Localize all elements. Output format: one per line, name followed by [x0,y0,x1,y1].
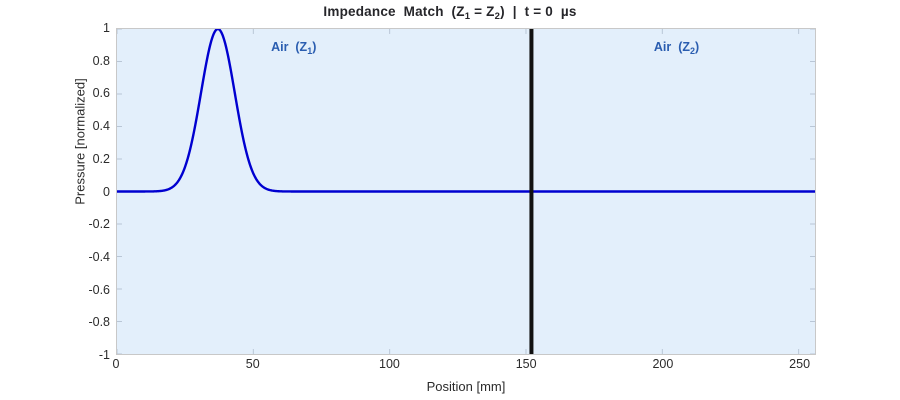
impedance-match-figure: Impedance Match (Z1 = Z2) | t = 0 µs Pre… [0,0,900,400]
y-tick-label: -1 [70,348,110,362]
region-left-label: Air (Z1) [271,40,316,54]
x-tick-label: 250 [789,357,810,371]
plot-area [116,28,816,355]
y-tick-label: -0.4 [70,250,110,264]
y-tick-label: 0.6 [70,86,110,100]
x-tick-label: 0 [113,357,120,371]
region-right-label: Air (Z2) [654,40,699,54]
x-axis-tick-labels: 050100150200250 [116,357,816,377]
region-right-label-tail: ) [695,40,699,54]
x-tick-label: 150 [516,357,537,371]
chart-title-main: Impedance Match (Z [323,4,464,19]
chart-title: Impedance Match (Z1 = Z2) | t = 0 µs [0,4,900,19]
x-tick-label: 200 [652,357,673,371]
chart-title-sub-2: 2 [495,11,500,22]
plot-canvas [117,29,815,354]
y-axis-tick-labels: -1-0.8-0.6-0.4-0.200.20.40.60.81 [68,28,110,355]
y-tick-label: -0.6 [70,283,110,297]
region-right-label-main: Air (Z [654,40,690,54]
x-tick-label: 50 [246,357,260,371]
y-tick-label: 0.2 [70,152,110,166]
pressure-waveform-line [117,29,815,191]
y-tick-label: 0.4 [70,119,110,133]
y-tick-label: -0.2 [70,217,110,231]
region-left-label-tail: ) [312,40,316,54]
x-tick-label: 100 [379,357,400,371]
chart-title-sub-1: 1 [465,11,470,22]
y-tick-label: -0.8 [70,315,110,329]
chart-title-tail: ) | t = 0 µs [500,4,576,19]
y-tick-label: 0.8 [70,54,110,68]
x-axis-label: Position [mm] [116,379,816,394]
y-tick-label: 0 [70,185,110,199]
chart-title-mid: = Z [470,4,494,19]
y-tick-label: 1 [70,21,110,35]
region-left-label-main: Air (Z [271,40,307,54]
region-left-label-subscript: 1 [307,46,312,56]
region-right-label-subscript: 2 [690,46,695,56]
